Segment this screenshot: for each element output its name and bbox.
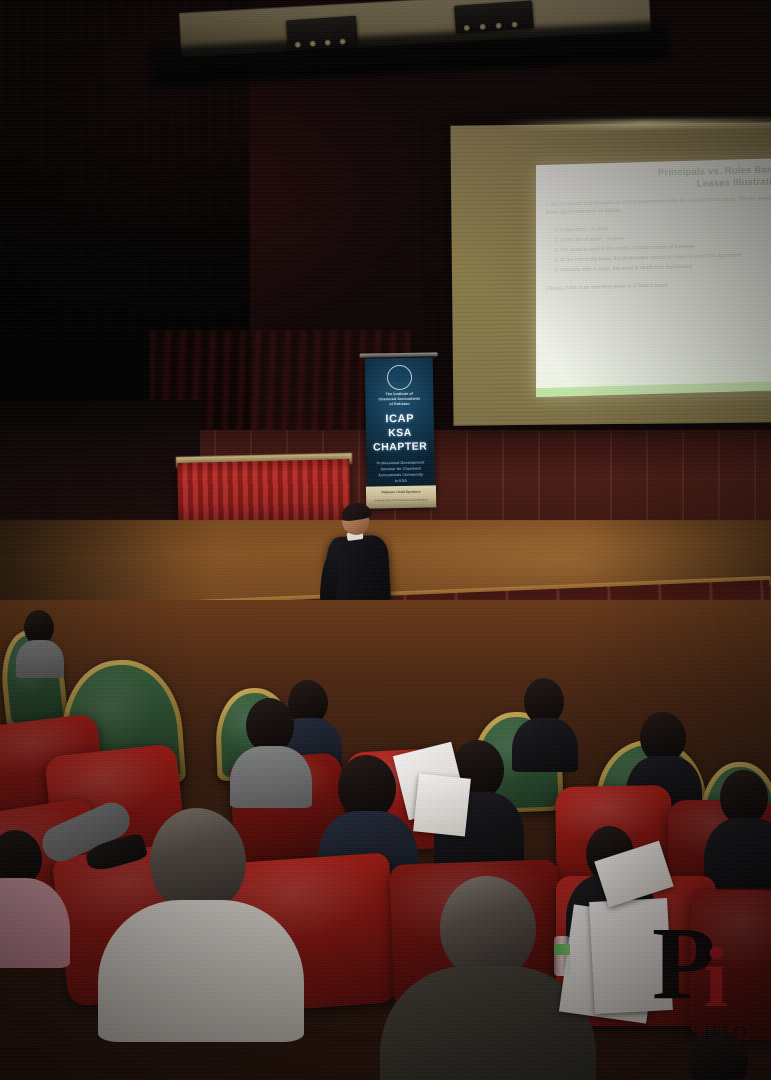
theatre-seat <box>689 889 771 1041</box>
banner-subtitle: Professional Development Seminar for Cha… <box>366 459 434 484</box>
stage-light-fixture <box>454 0 534 33</box>
banner-body: The Institute of Chartered Accountants o… <box>365 357 435 488</box>
slide-bullet-list: Lease term – 4 years Useful life of asse… <box>546 220 771 277</box>
projection-screen: Principals vs. Rules Based Leases Illust… <box>450 122 771 431</box>
icap-seal-logo <box>386 365 411 390</box>
banner-subtitle-line4: in KSA <box>372 477 430 484</box>
banner-region: KSA <box>366 426 434 439</box>
audience-seating-area <box>0 600 771 1080</box>
slide-paragraph: Copa Co leased a photocopier to a local … <box>546 195 771 217</box>
bottle-label <box>554 944 570 955</box>
slide-footer-text: Discuss if this is an operating lease or… <box>546 279 771 293</box>
handout-paper <box>413 773 471 836</box>
banner-acronym: ICAP <box>366 412 434 425</box>
projected-slide: Principals vs. Rules Based Leases Illust… <box>536 158 771 397</box>
stage-light-fixture <box>286 16 358 51</box>
water-bottle <box>554 936 570 976</box>
banner-chapter-word: CHAPTER <box>366 440 434 453</box>
banner-institute-line3: of Pakistan <box>365 402 433 408</box>
banner-footer-line2: Supported by ICAP Overseas Coordination <box>366 493 436 502</box>
handout-paper <box>589 898 673 1014</box>
auditorium-photo: Principals vs. Rules Based Leases Illust… <box>0 0 771 1080</box>
icap-roll-up-banner: The Institute of Chartered Accountants o… <box>365 357 436 510</box>
slide-title: Principals vs. Rules Based Leases Illust… <box>546 164 771 194</box>
